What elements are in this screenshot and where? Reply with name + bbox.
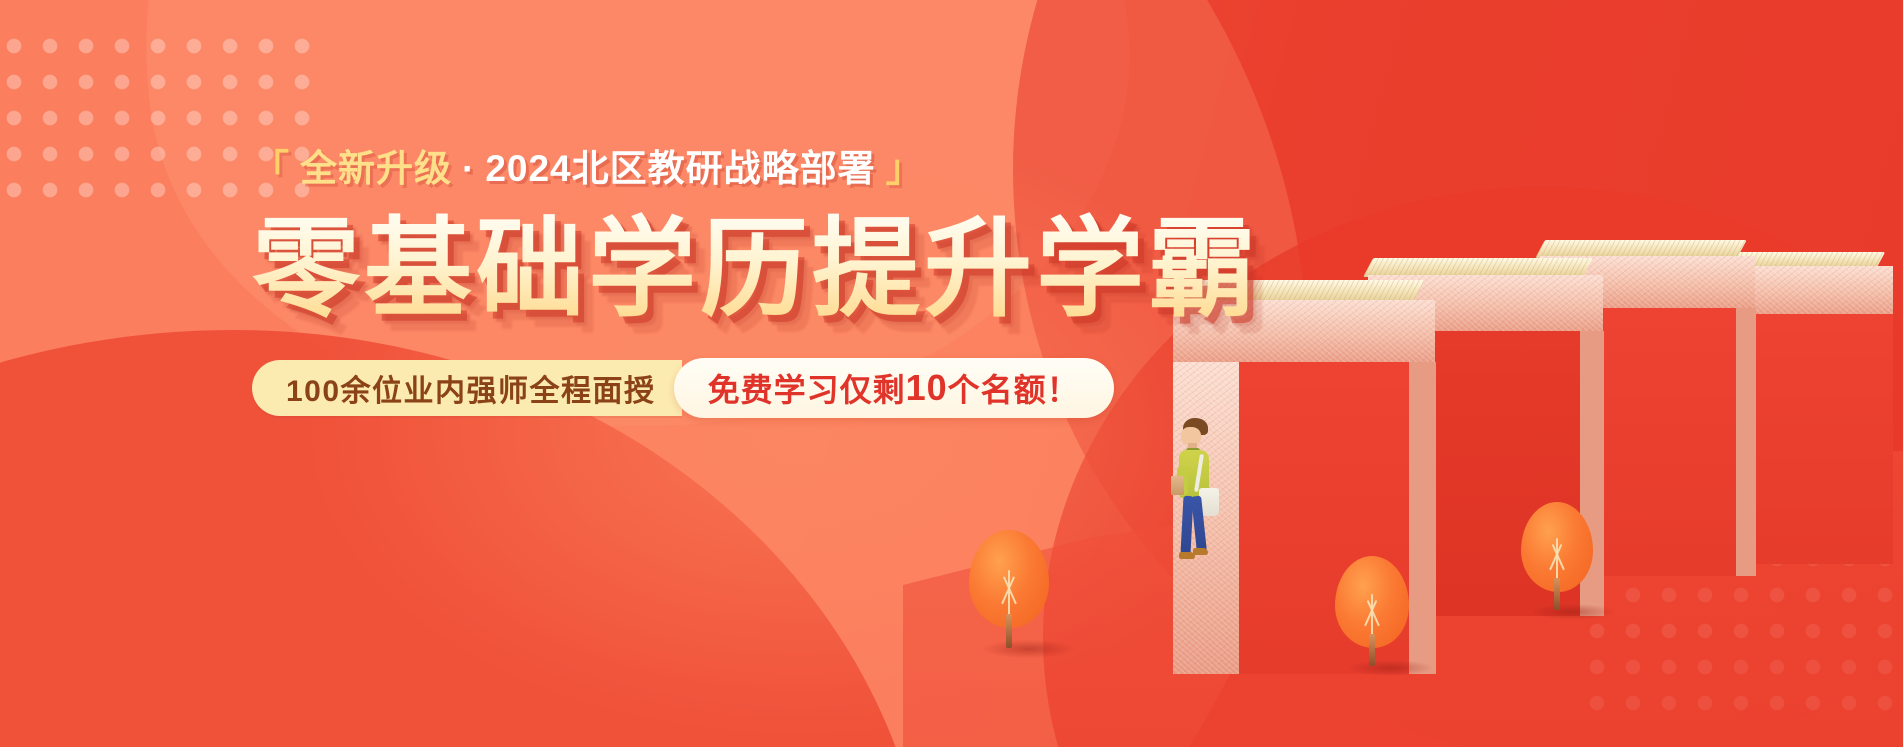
banner-copy: 「 全新升级 · 2024北区教研战略部署 」 零基础学历提升学霸班 100余位…: [252, 140, 1252, 416]
pill-free-slots[interactable]: 免费学习仅剩10个名额！: [674, 358, 1114, 418]
banner-eyebrow: 「 全新升级 · 2024北区教研战略部署 」: [252, 140, 1252, 196]
bracket-open: 「: [252, 150, 290, 187]
promo-banner: 「 全新升级 · 2024北区教研战略部署 」 零基础学历提升学霸班 100余位…: [0, 0, 1903, 747]
pill-free-slots-count: 10: [906, 367, 948, 409]
pill-instructors-label: 100余位业内强师全程面授: [286, 366, 656, 410]
bracket-close: 」: [886, 150, 924, 187]
pill-instructors: 100余位业内强师全程面授: [252, 360, 682, 416]
eyebrow-separator: ·: [462, 150, 475, 187]
dot-grid-bottom-right: [1579, 541, 1903, 731]
eyebrow-rest: 2024北区教研战略部署: [485, 150, 875, 187]
pill-free-slots-prefix: 免费学习仅剩: [708, 365, 906, 411]
pill-free-slots-suffix: 个名额！: [948, 365, 1080, 411]
banner-pill-row: 100余位业内强师全程面授 免费学习仅剩10个名额！: [252, 360, 1252, 416]
banner-headline: 零基础学历提升学霸班: [252, 212, 1252, 326]
eyebrow-highlight: 全新升级: [300, 150, 452, 187]
